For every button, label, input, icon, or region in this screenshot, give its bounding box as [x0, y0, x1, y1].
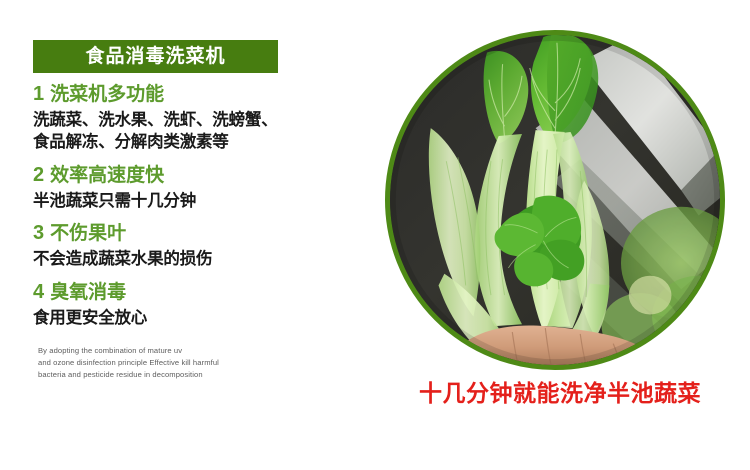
feature-body-line: 半池蔬菜只需十几分钟 [33, 191, 293, 213]
promo-banner-page: 食品消毒洗菜机 1 洗菜机多功能 洗蔬菜、洗水果、洗虾、洗螃蟹、 食品解冻、分解… [0, 0, 750, 470]
feature-heading-text-1: 洗菜机多功能 [50, 83, 164, 107]
feature-body-1: 洗蔬菜、洗水果、洗虾、洗螃蟹、 食品解冻、分解肉类激素等 [33, 110, 293, 154]
feature-heading-text-2: 效率高速度快 [50, 164, 164, 188]
feature-number-2: 2 [33, 163, 44, 188]
feature-heading-text-4: 臭氧消毒 [50, 281, 126, 305]
english-description: By adopting the combination of mature uv… [38, 345, 293, 382]
feature-list-column: 食品消毒洗菜机 1 洗菜机多功能 洗蔬菜、洗水果、洗虾、洗螃蟹、 食品解冻、分解… [33, 40, 293, 382]
feature-item-2: 2 效率高速度快 半池蔬菜只需十几分钟 [33, 163, 293, 213]
feature-heading-4: 4 臭氧消毒 [33, 280, 293, 305]
product-title-banner: 食品消毒洗菜机 [33, 40, 278, 73]
feature-heading-1: 1 洗菜机多功能 [33, 82, 293, 107]
feature-body-2: 半池蔬菜只需十几分钟 [33, 191, 293, 213]
feature-body-line: 洗蔬菜、洗水果、洗虾、洗螃蟹、 [33, 110, 293, 132]
bok-choy-photo-circle [385, 30, 725, 370]
feature-item-4: 4 臭氧消毒 食用更安全放心 [33, 280, 293, 330]
bok-choy-illustration [390, 35, 720, 365]
feature-number-3: 3 [33, 221, 44, 246]
feature-item-3: 3 不伤果叶 不会造成蔬菜水果的损伤 [33, 221, 293, 271]
feature-number-4: 4 [33, 280, 44, 305]
feature-number-1: 1 [33, 82, 44, 107]
photo-inner-frame [390, 35, 720, 365]
feature-heading-text-3: 不伤果叶 [50, 222, 126, 246]
feature-body-line: 食用更安全放心 [33, 308, 293, 330]
english-line-3: bacteria and pesticide residue in decomp… [38, 369, 293, 381]
red-caption-text: 十几分钟就能洗净半池蔬菜 [410, 380, 710, 408]
feature-body-4: 食用更安全放心 [33, 308, 293, 330]
feature-body-3: 不会造成蔬菜水果的损伤 [33, 249, 293, 271]
feature-body-line: 食品解冻、分解肉类激素等 [33, 132, 293, 154]
feature-item-1: 1 洗菜机多功能 洗蔬菜、洗水果、洗虾、洗螃蟹、 食品解冻、分解肉类激素等 [33, 82, 293, 154]
english-line-2: and ozone disinfection principle Effecti… [38, 357, 293, 369]
feature-body-line: 不会造成蔬菜水果的损伤 [33, 249, 293, 271]
product-title-text: 食品消毒洗菜机 [85, 47, 225, 66]
feature-heading-2: 2 效率高速度快 [33, 163, 293, 188]
english-line-1: By adopting the combination of mature uv [38, 345, 293, 357]
feature-heading-3: 3 不伤果叶 [33, 221, 293, 246]
